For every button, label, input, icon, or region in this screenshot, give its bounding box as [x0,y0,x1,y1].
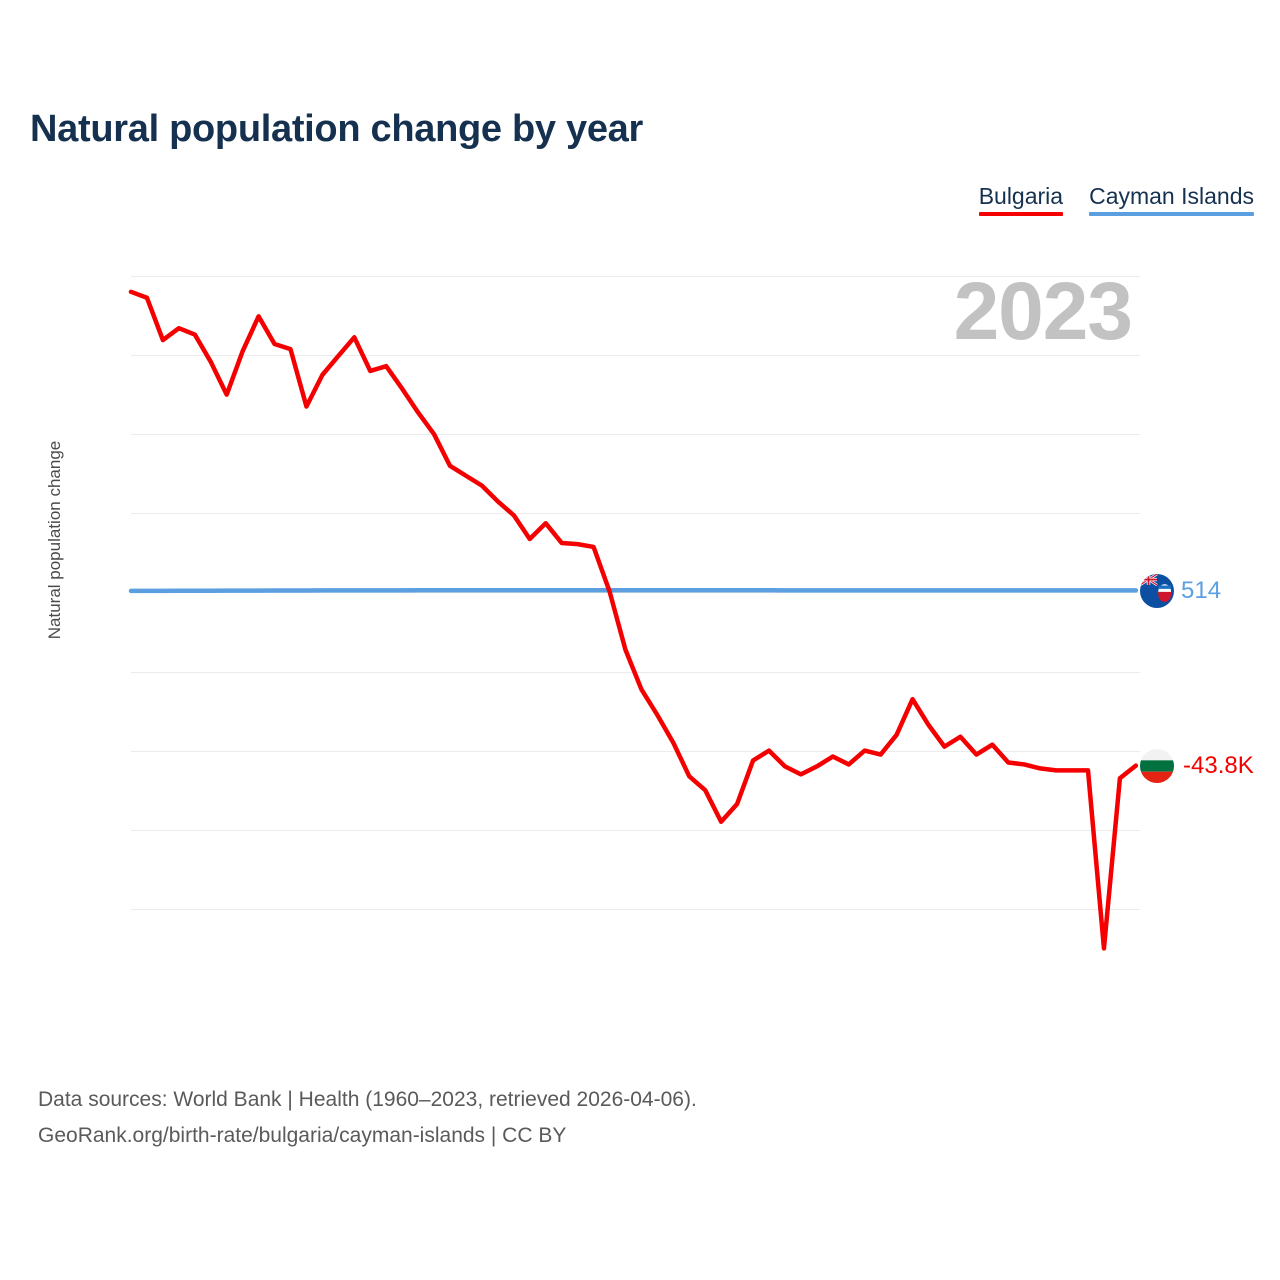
line-bulgaria [131,292,1136,949]
legend-rule-cayman-islands [1089,212,1254,216]
legend: Bulgaria Cayman Islands [979,183,1254,216]
legend-rule-bulgaria [979,212,1063,216]
bulgaria-flag-icon [1140,749,1174,783]
legend-label-cayman-islands: Cayman Islands [1089,183,1254,212]
legend-item-bulgaria[interactable]: Bulgaria [979,183,1063,216]
y-axis-label: Natural population change [45,430,65,650]
footer-attribution: GeoRank.org/birth-rate/bulgaria/cayman-i… [38,1124,566,1148]
cayman-islands-flag-icon [1140,574,1174,608]
chart-page: Natural population change by year Bulgar… [0,0,1280,1280]
page-title: Natural population change by year [30,108,643,151]
line-cayman-islands [131,590,1136,591]
footer-data-sources: Data sources: World Bank | Health (1960–… [38,1088,697,1112]
legend-item-cayman-islands[interactable]: Cayman Islands [1089,183,1254,216]
bulgaria-end-value: -43.8K [1183,752,1254,780]
cayman-islands-end-value: 514 [1181,577,1221,605]
legend-label-bulgaria: Bulgaria [979,183,1063,212]
plot-area: 80K 60K 40K 20K 0 -20K -40K -60K -80K 19… [131,276,1140,909]
